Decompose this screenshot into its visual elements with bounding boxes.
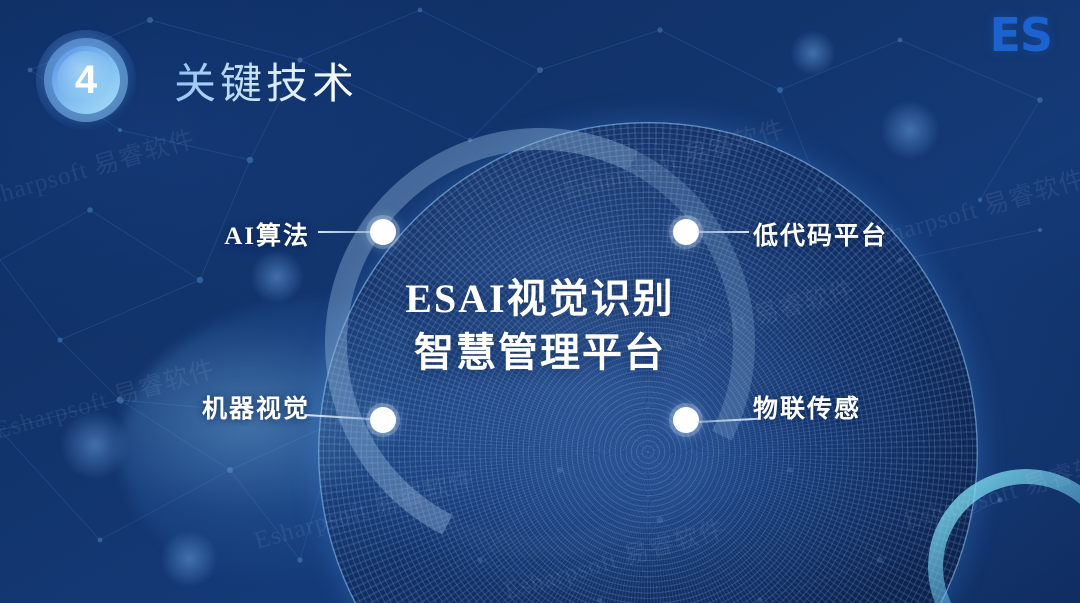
platform-title-line-1: ESAI视觉识别 (0, 272, 1080, 326)
watermark: Esharpsoft 易睿软件 (499, 509, 728, 603)
glow-dot (880, 100, 940, 160)
connector-node-top-left[interactable] (370, 219, 396, 245)
connector-node-bottom-left[interactable] (370, 407, 396, 433)
watermark: Esharpsoft 易睿软件 (0, 119, 199, 216)
keyword-label-bottom-left: 机器视觉 (130, 389, 310, 425)
keyword-label-top-left: AI算法 (130, 216, 310, 252)
connector-line-top-right (697, 231, 749, 233)
brand-logo: ES (989, 12, 1052, 58)
slide-root: Esharpsoft 易睿软件 Esharpsoft 易睿软件 Esharpso… (0, 0, 1080, 603)
watermark: Esharpsoft 易睿软件 (559, 109, 788, 206)
watermark: Esharpsoft 易睿软件 (899, 439, 1080, 536)
slide-header: 4 关键技术 (36, 30, 358, 130)
keyword-label-top-right: 低代码平台 (753, 216, 888, 252)
connector-node-bottom-right[interactable] (673, 407, 699, 433)
watermark: Esharpsoft 易睿软件 (629, 269, 858, 366)
glow-dot (790, 30, 836, 76)
connector-node-top-right[interactable] (673, 219, 699, 245)
page-title: 关键技术 (174, 50, 358, 111)
badge-core: 4 (52, 46, 120, 114)
section-number-text: 4 (75, 60, 97, 100)
keyword-label-bottom-right: 物联传感 (753, 389, 861, 425)
connector-line-top-left (318, 231, 374, 233)
watermark: Esharpsoft 易睿软件 (859, 159, 1080, 256)
connector-line-bottom-right (697, 418, 759, 423)
corner-accent-ring-icon (928, 469, 1080, 603)
globe-light-flare (120, 300, 540, 600)
glow-dot (250, 250, 304, 304)
section-number-badge: 4 (36, 30, 136, 130)
